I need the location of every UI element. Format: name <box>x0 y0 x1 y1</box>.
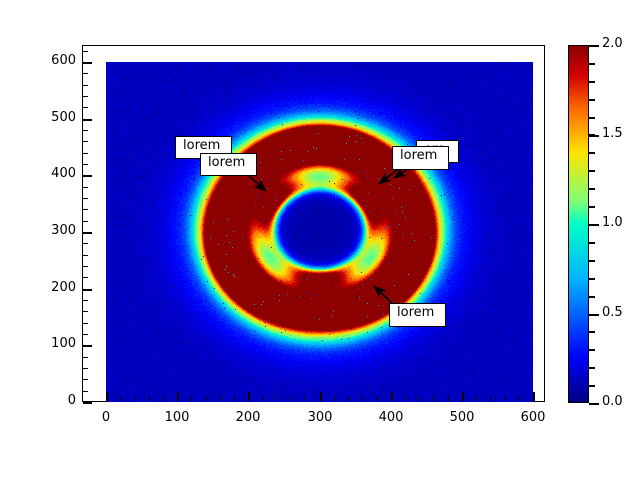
axis-tick <box>206 396 207 401</box>
axis-tick <box>334 396 335 401</box>
colorbar-tick <box>589 296 595 298</box>
axis-tick <box>83 51 88 52</box>
colorbar-tick-label: 1.0 <box>602 215 623 230</box>
axis-tick <box>120 396 121 401</box>
axis-tick <box>83 96 88 97</box>
axis-tick <box>462 392 464 401</box>
axis-tick <box>83 73 88 74</box>
axis-tick <box>83 345 92 347</box>
axis-tick <box>533 392 535 401</box>
heatmap-image <box>106 62 533 402</box>
axis-tick-label: 500 <box>32 110 76 125</box>
colorbar-tick <box>589 242 595 244</box>
axis-tick <box>234 396 235 401</box>
axis-tick-label: 200 <box>223 410 273 425</box>
annotation-label[interactable]: lorem <box>392 146 449 170</box>
axis-tick <box>519 396 520 401</box>
axis-tick <box>83 62 92 64</box>
figure-root: 0100200300400500600 0100200300400500600 … <box>0 0 640 480</box>
colorbar-tick-major <box>589 314 599 316</box>
axis-tick <box>419 396 420 401</box>
axis-tick <box>83 323 88 324</box>
axis-tick <box>391 392 393 401</box>
axis-tick <box>83 402 92 404</box>
axis-tick-label: 100 <box>32 336 76 351</box>
axis-tick <box>191 396 192 401</box>
axis-tick <box>83 300 88 301</box>
axis-tick <box>490 396 491 401</box>
axis-tick-label: 200 <box>32 280 76 295</box>
axis-tick <box>83 368 88 369</box>
colorbar-tick-major <box>589 403 599 405</box>
axis-tick <box>348 396 349 401</box>
axis-tick <box>83 198 88 199</box>
colorbar-tick <box>589 349 595 351</box>
axis-tick <box>83 141 88 142</box>
colorbar-tick <box>589 260 595 262</box>
colorbar-tick <box>589 63 595 65</box>
axis-tick <box>291 396 292 401</box>
axis-tick-label: 300 <box>32 223 76 238</box>
axis-tick <box>83 255 88 256</box>
axis-tick <box>83 130 88 131</box>
axis-tick <box>405 396 406 401</box>
colorbar-tick-label: 0.5 <box>602 305 623 320</box>
axis-tick <box>83 289 92 291</box>
axis-tick <box>134 396 135 401</box>
colorbar-tick-major <box>589 135 599 137</box>
axis-tick <box>476 396 477 401</box>
colorbar-tick <box>589 385 595 387</box>
axis-tick <box>83 107 88 108</box>
axis-tick <box>83 277 88 278</box>
colorbar-tick-label: 0.0 <box>602 394 623 409</box>
axis-tick <box>83 119 92 121</box>
axis-tick-label: 600 <box>32 53 76 68</box>
colorbar-tick-label: 1.5 <box>602 126 623 141</box>
colorbar-tick <box>589 81 595 83</box>
colorbar-tick-major <box>589 45 599 47</box>
axis-tick-label: 100 <box>152 410 202 425</box>
axis-tick <box>149 396 150 401</box>
axis-tick <box>305 396 306 401</box>
colorbar-tick <box>589 99 595 101</box>
axis-tick-label: 500 <box>437 410 487 425</box>
axis-tick <box>362 396 363 401</box>
axis-tick <box>83 391 88 392</box>
axis-tick-label: 0 <box>32 393 76 408</box>
axis-tick-label: 0 <box>81 410 131 425</box>
colorbar-tick <box>589 188 595 190</box>
colorbar <box>568 45 589 403</box>
axis-tick-label: 400 <box>366 410 416 425</box>
axis-tick <box>83 187 88 188</box>
axis-tick <box>83 357 88 358</box>
colorbar-tick <box>589 331 595 333</box>
axis-tick <box>220 396 221 401</box>
axis-tick-label: 600 <box>508 410 558 425</box>
axis-tick <box>83 164 88 165</box>
axis-tick <box>83 334 88 335</box>
annotation-label[interactable]: lorem <box>389 303 446 327</box>
axis-tick <box>83 266 88 267</box>
colorbar-tick-major <box>589 224 599 226</box>
axis-tick <box>83 221 88 222</box>
axis-tick <box>83 232 92 234</box>
colorbar-tick <box>589 367 595 369</box>
axis-tick <box>505 396 506 401</box>
colorbar-tick <box>589 117 595 119</box>
axis-tick <box>83 175 92 177</box>
axis-tick <box>263 396 264 401</box>
axis-tick <box>83 85 88 86</box>
axis-tick <box>433 396 434 401</box>
axis-tick <box>83 153 88 154</box>
axis-tick <box>177 392 179 401</box>
axis-tick-label: 400 <box>32 166 76 181</box>
colorbar-tick <box>589 278 595 280</box>
colorbar-tick <box>589 170 595 172</box>
axis-tick <box>163 396 164 401</box>
axis-tick <box>248 392 250 401</box>
axis-tick <box>83 379 88 380</box>
colorbar-tick <box>589 206 595 208</box>
axis-tick <box>83 209 88 210</box>
axis-tick <box>277 396 278 401</box>
colorbar-gradient <box>568 45 589 403</box>
axis-tick <box>448 396 449 401</box>
axis-tick <box>106 392 108 401</box>
axis-tick-label: 300 <box>295 410 345 425</box>
axis-tick <box>83 311 88 312</box>
axis-tick <box>320 392 322 401</box>
axis-tick <box>83 243 88 244</box>
axis-tick <box>376 396 377 401</box>
annotation-label[interactable]: lorem <box>200 153 257 176</box>
colorbar-tick <box>589 152 595 154</box>
colorbar-tick-label: 2.0 <box>602 36 623 51</box>
